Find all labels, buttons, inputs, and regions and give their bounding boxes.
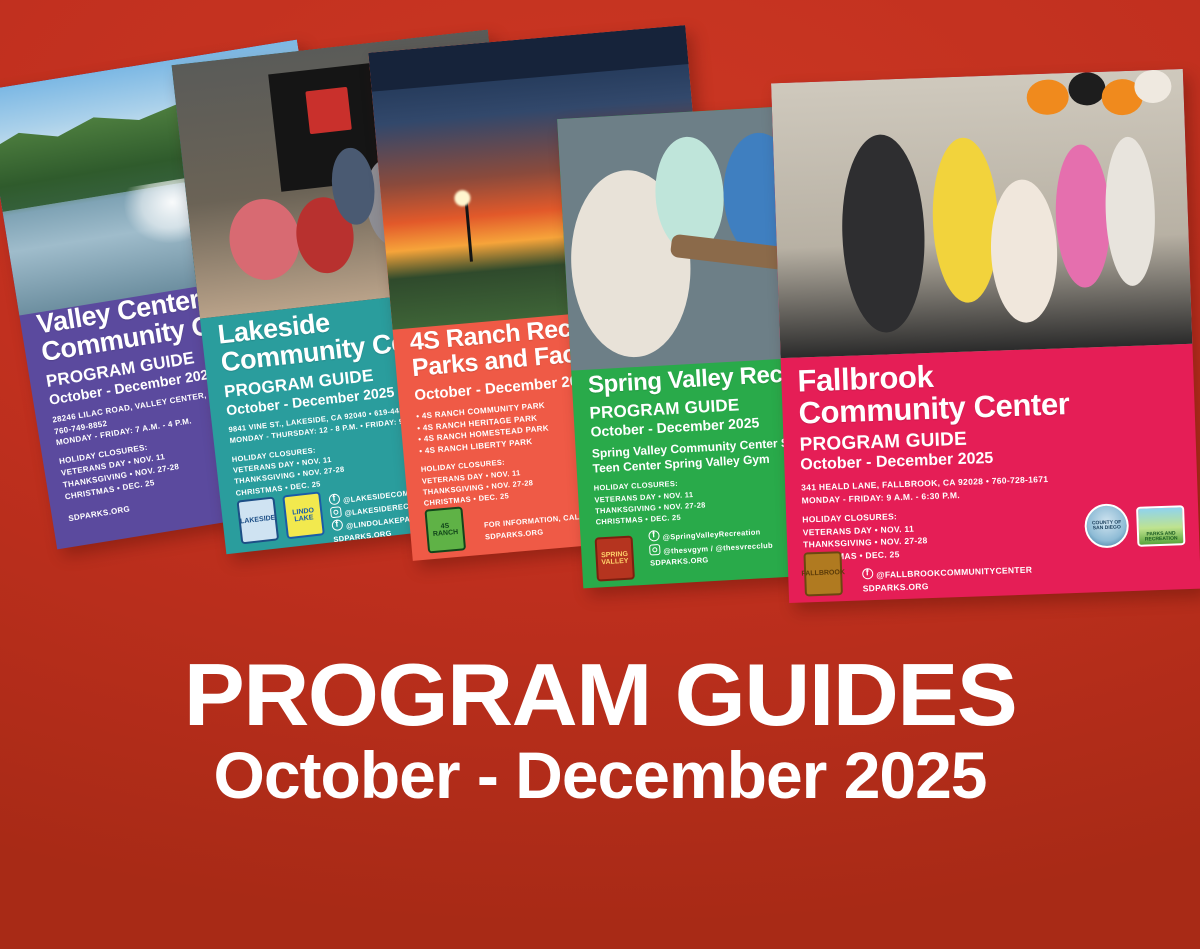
- lindo-lake-park-logo: LINDO LAKE: [282, 491, 325, 539]
- parks-and-recreation-logo: PARKS AND RECREATION: [1136, 505, 1185, 547]
- program-guide-card-fallbrook[interactable]: Fallbrook Community Center PROGRAM GUIDE…: [771, 69, 1200, 603]
- fallbrook-info-panel: Fallbrook Community Center PROGRAM GUIDE…: [780, 334, 1200, 603]
- fallbrook-logo-row: FALLBROOK: [803, 551, 843, 596]
- lakeside-community-center-logo: LAKESIDE: [237, 496, 280, 544]
- photo-tree-canopy: [368, 25, 688, 91]
- facebook-icon: [862, 568, 873, 579]
- county-logo-row: COUNTY OF SAN DIEGO PARKS AND RECREATION: [1084, 501, 1185, 548]
- facebook-icon: [328, 493, 340, 505]
- photo-light-pole: [464, 200, 472, 261]
- photo-logo-shape: [306, 87, 352, 135]
- 4s-ranch-logo-row: 4S RANCH: [424, 506, 466, 553]
- photo-stadium-light: [454, 189, 471, 206]
- card-social-block: @FALLBROOKCOMMUNITYCENTER SDPARKS.ORG: [862, 557, 1185, 595]
- poster-headline: PROGRAM GUIDES October - December 2025: [0, 655, 1200, 809]
- headline-line2: October - December 2025: [0, 742, 1200, 809]
- fallbrook-logo: FALLBROOK: [803, 551, 843, 596]
- card-contact-info: 341 HEALD LANE, FALLBROOK, CA 92028 • 76…: [801, 469, 1182, 507]
- headline-line1: PROGRAM GUIDES: [0, 655, 1200, 736]
- facebook-icon: [331, 519, 343, 531]
- county-of-san-diego-seal: COUNTY OF SAN DIEGO: [1084, 503, 1130, 549]
- fallbrook-cover-photo: [771, 69, 1192, 358]
- poster-background: Valley Center Community Center PROGRAM G…: [0, 0, 1200, 949]
- instagram-icon: [649, 544, 661, 556]
- lakeside-logo-row: LAKESIDE LINDO LAKE: [237, 491, 325, 544]
- instagram-icon: [330, 506, 342, 518]
- spring-valley-logo: SPRING VALLEY: [595, 536, 635, 582]
- 4s-ranch-logo: 4S RANCH: [424, 506, 466, 553]
- spring-valley-logo-row: SPRING VALLEY: [595, 536, 635, 582]
- facebook-icon: [648, 530, 660, 542]
